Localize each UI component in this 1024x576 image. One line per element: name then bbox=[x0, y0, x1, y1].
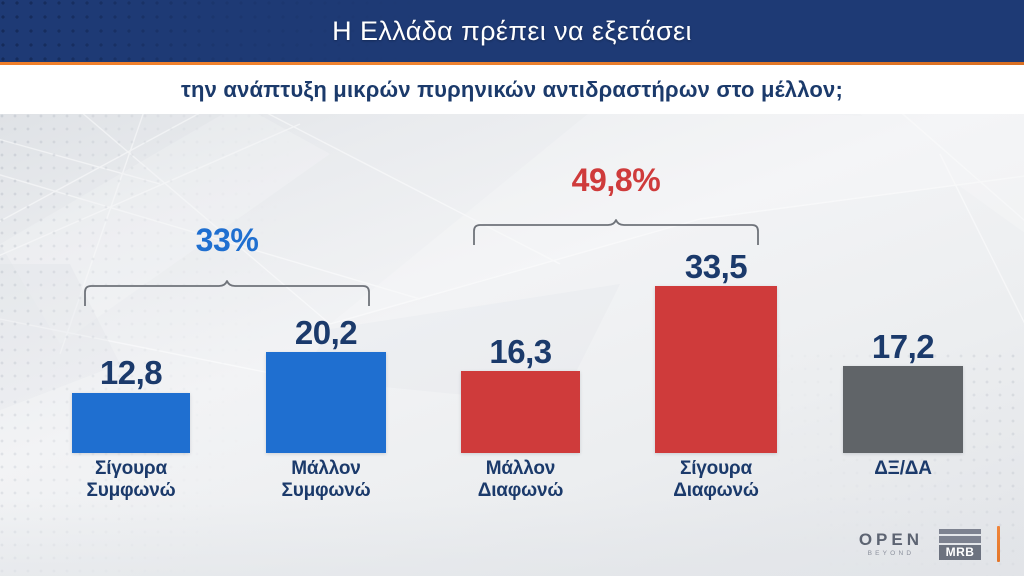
bar-value-5: 17,2 bbox=[843, 328, 963, 366]
bar-label-5-line1: ΔΞ/ΔΑ bbox=[833, 458, 973, 480]
branding-logos: OPEN BEYOND MRB bbox=[859, 526, 1000, 562]
bar-label-1-line2: Συμφωνώ bbox=[62, 480, 200, 502]
page-title: Η Ελλάδα πρέπει να εξετάσει bbox=[0, 0, 1024, 62]
bar-mallon-diafono bbox=[461, 371, 580, 453]
bar-label-3-line1: Μάλλον bbox=[451, 458, 590, 480]
bar-value-2: 20,2 bbox=[266, 314, 386, 352]
bracket-total-agree: 33% bbox=[83, 222, 371, 259]
subtitle-band: την ανάπτυξη μικρών πυρηνικών αντιδραστή… bbox=[0, 65, 1024, 114]
bracket-total-disagree: 49,8% bbox=[472, 162, 760, 199]
bar-sigoura-diafono bbox=[655, 286, 777, 453]
bar-label-2: Μάλλον Συμφωνώ bbox=[256, 458, 396, 502]
open-beyond-logo: OPEN BEYOND bbox=[859, 531, 923, 558]
bar-label-4: Σίγουρα Διαφωνώ bbox=[645, 458, 787, 502]
bar-label-4-line1: Σίγουρα bbox=[645, 458, 787, 480]
open-logo-word: OPEN bbox=[859, 531, 923, 548]
bracket-disagree bbox=[472, 219, 760, 245]
bar-value-1: 12,8 bbox=[72, 354, 190, 392]
bar-mallon-symfono bbox=[266, 352, 386, 453]
poll-graphic: Η Ελλάδα πρέπει να εξετάσει την ανάπτυξη… bbox=[0, 0, 1024, 576]
open-logo-subword: BEYOND bbox=[868, 551, 915, 558]
chart-canvas: 33% 49,8% 12,8 Σίγουρα Συμφωνώ 20,2 Μάλλ… bbox=[0, 114, 1024, 576]
bar-label-1: Σίγουρα Συμφωνώ bbox=[62, 458, 200, 502]
page-subtitle: την ανάπτυξη μικρών πυρηνικών αντιδραστή… bbox=[181, 77, 843, 103]
mrb-logo-word: MRB bbox=[939, 545, 981, 560]
accent-tick bbox=[997, 526, 1000, 562]
accent-divider bbox=[0, 62, 1024, 65]
bracket-agree bbox=[83, 280, 371, 306]
bar-label-1-line1: Σίγουρα bbox=[62, 458, 200, 480]
bar-label-2-line1: Μάλλον bbox=[256, 458, 396, 480]
bar-label-3: Μάλλον Διαφωνώ bbox=[451, 458, 590, 502]
bar-label-2-line2: Συμφωνώ bbox=[256, 480, 396, 502]
mrb-logo: MRB bbox=[939, 529, 981, 560]
bar-label-5: ΔΞ/ΔΑ bbox=[833, 458, 973, 480]
bar-label-3-line2: Διαφωνώ bbox=[451, 480, 590, 502]
bar-value-4: 33,5 bbox=[655, 248, 777, 286]
bar-sigoura-symfono bbox=[72, 393, 190, 453]
bar-label-4-line2: Διαφωνώ bbox=[645, 480, 787, 502]
bar-value-3: 16,3 bbox=[461, 333, 580, 371]
bar-dx-da bbox=[843, 366, 963, 453]
mrb-logo-bar-mid bbox=[939, 536, 981, 543]
mrb-logo-bar-top bbox=[939, 529, 981, 534]
